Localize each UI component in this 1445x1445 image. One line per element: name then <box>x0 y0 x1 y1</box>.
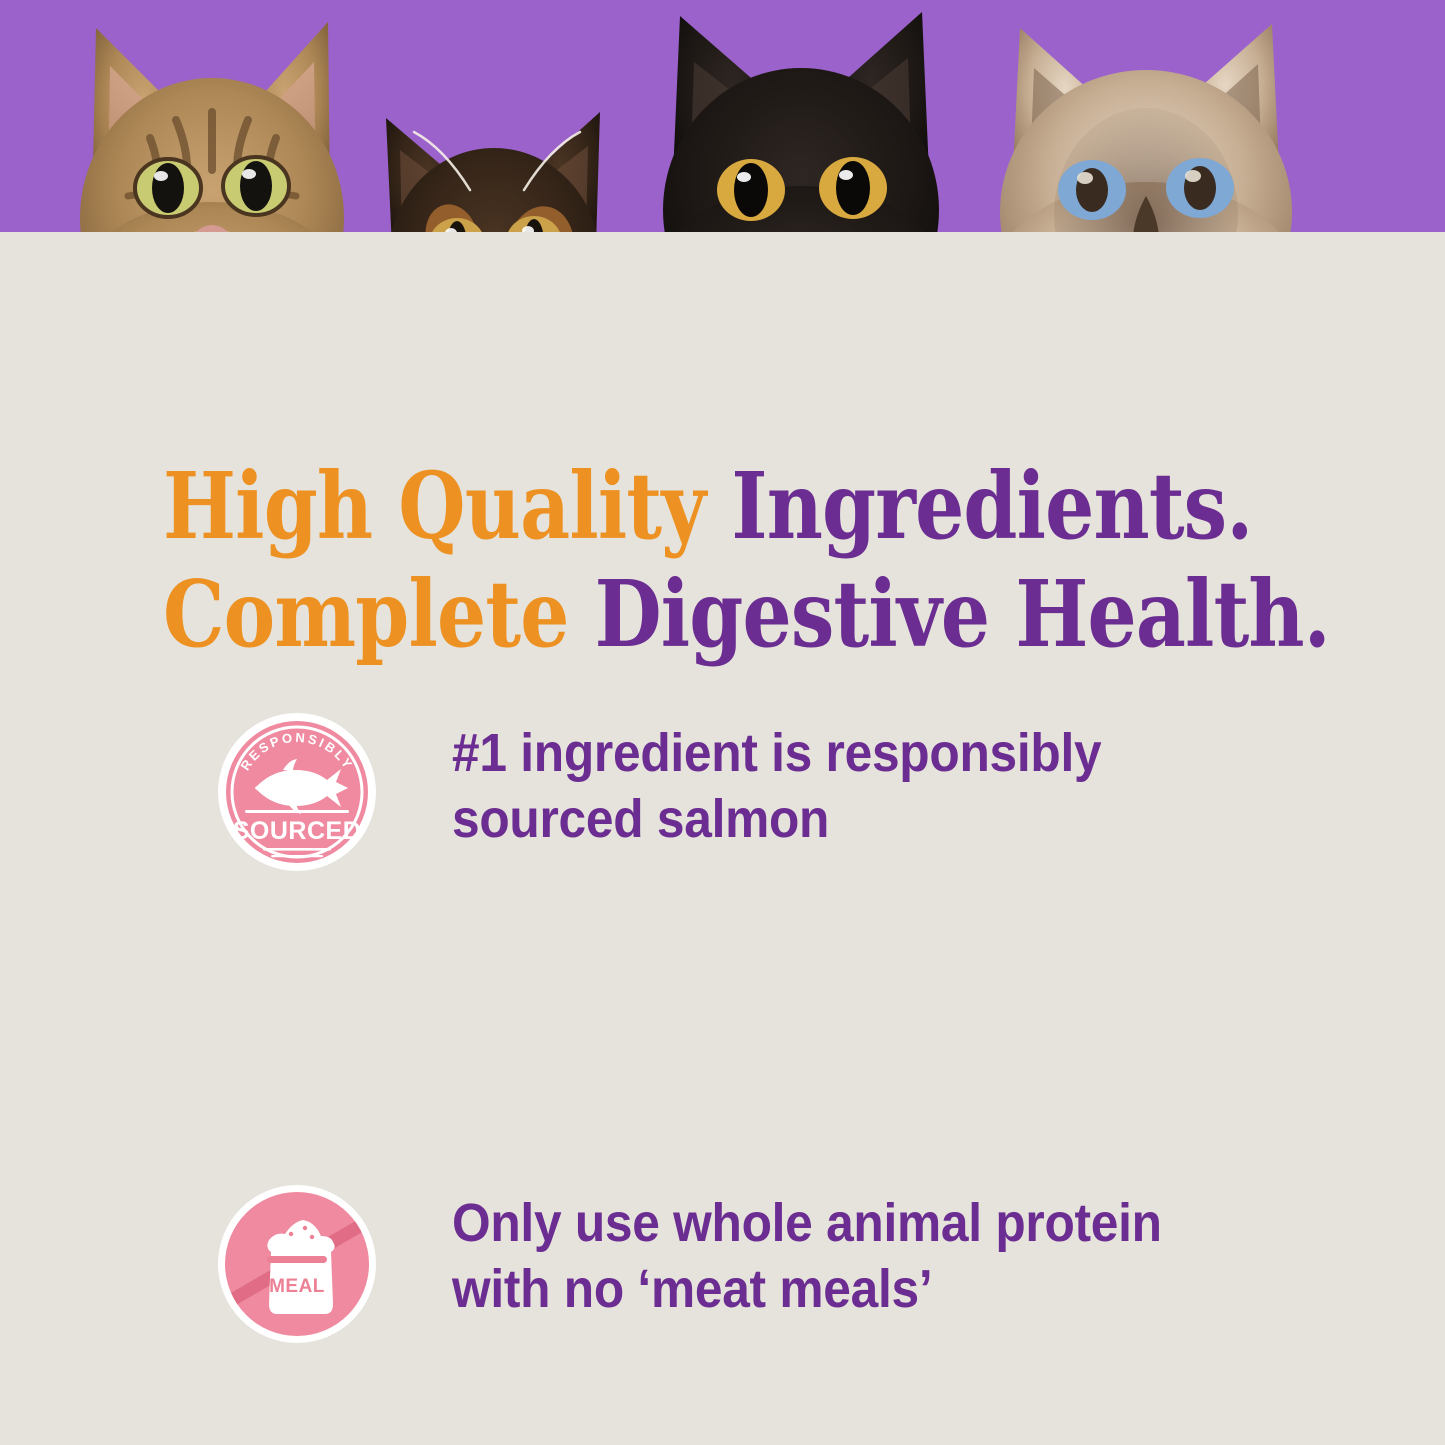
page-title: High Quality Ingredients. Complete Diges… <box>163 452 1154 668</box>
headline-line-2: Complete Digestive Health. <box>163 560 1154 668</box>
bullet-1-line-1: #1 ingredient is responsibly <box>452 720 1262 786</box>
hero-banner <box>0 0 1445 410</box>
hero-bottom-curve <box>0 232 1445 410</box>
headline-line-1: High Quality Ingredients. <box>163 452 1154 560</box>
list-item: Complete digestive health & immune suppo… <box>0 1152 1445 1372</box>
headline-ingredients: Ingredients. <box>731 452 1252 560</box>
bullet-text-1: #1 ingredient is responsibly sourced sal… <box>452 720 1262 852</box>
list-item: MEAL Only use whole animal protein with … <box>0 932 1445 1152</box>
headline-complete: Complete <box>163 560 595 668</box>
headline-high-quality: High Quality <box>163 452 731 560</box>
marketing-infographic-page: High Quality Ingredients. Complete Diges… <box>0 0 1445 1445</box>
bullet-1-line-2: sourced salmon <box>452 786 1262 852</box>
responsibly-sourced-fish-badge-icon: RESPONSIBLY SOURCED <box>217 712 377 872</box>
headline-digestive-health: Digestive Health. <box>595 560 1330 668</box>
list-item: RESPONSIBLY SOURCED <box>0 712 1445 932</box>
svg-text:SOURCED: SOURCED <box>233 817 362 845</box>
benefits-list: RESPONSIBLY SOURCED <box>0 712 1445 1372</box>
